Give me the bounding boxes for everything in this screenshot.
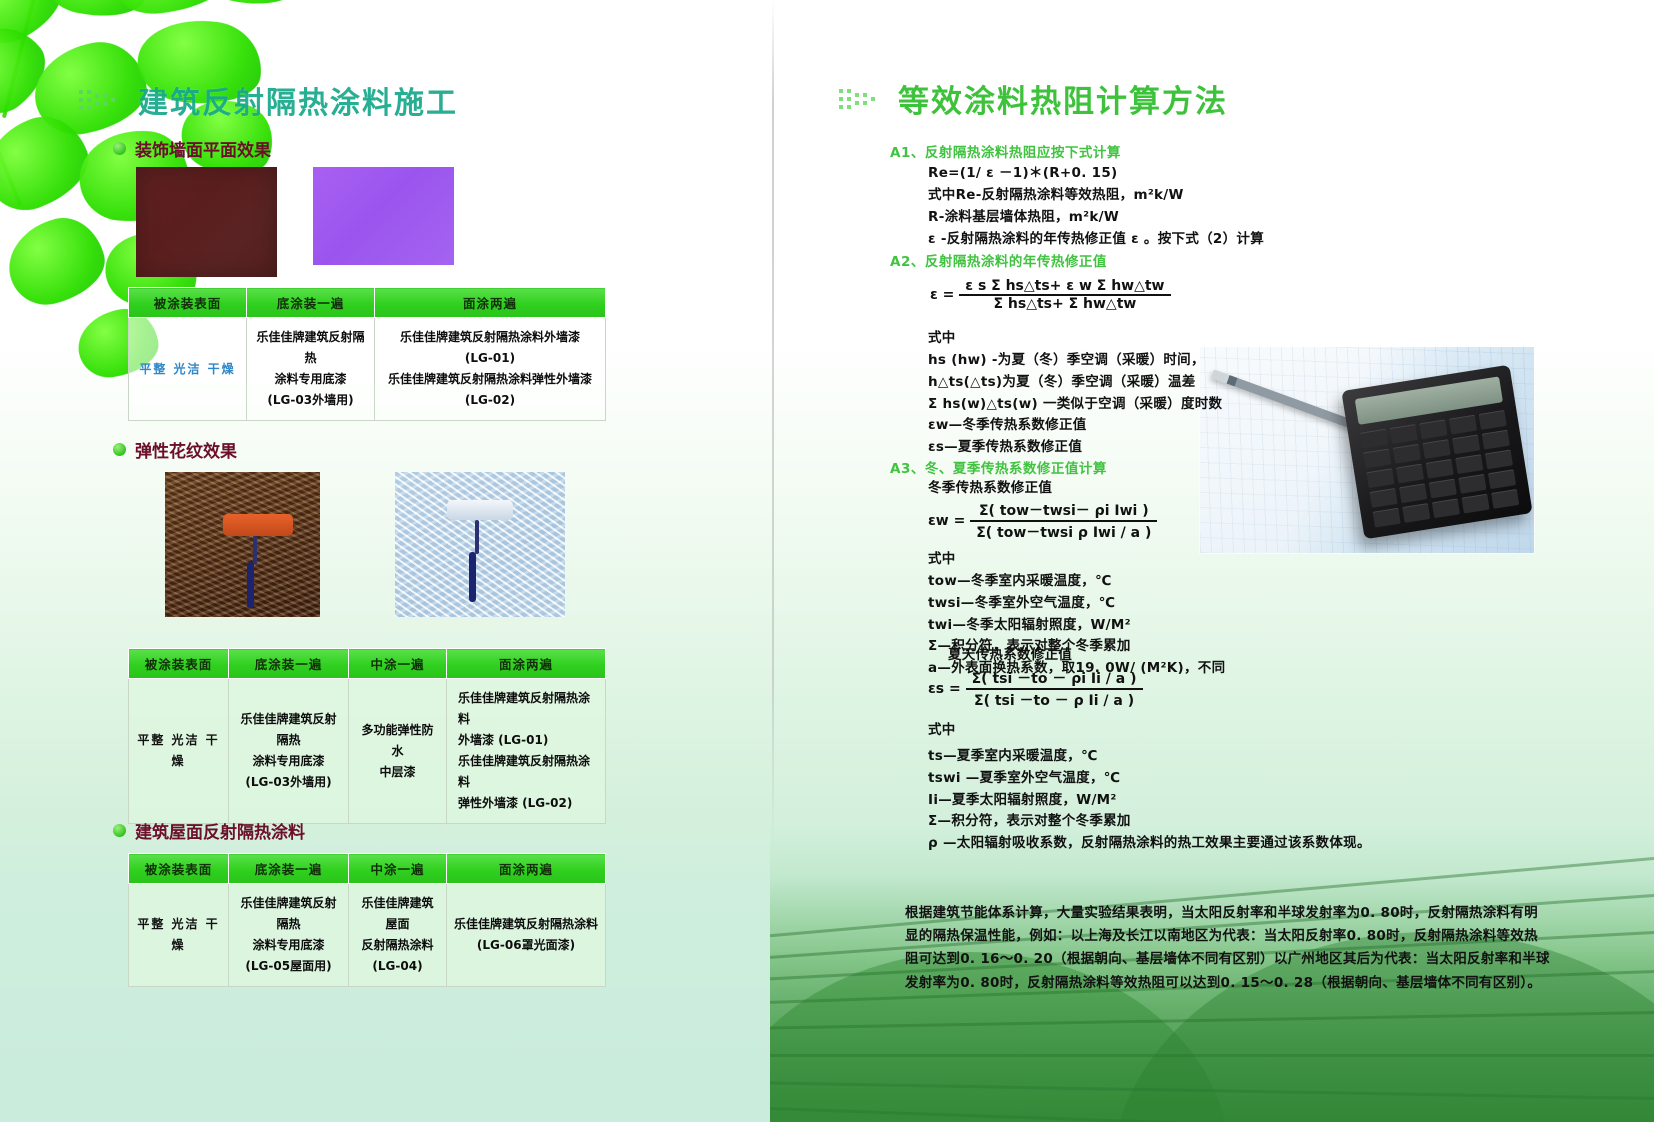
color-swatch-brown: [136, 167, 277, 277]
primer-line: 乐佳佳牌建筑反射隔热: [236, 893, 341, 935]
a3-w-line: 式中: [928, 549, 1225, 571]
bullet-icon: [113, 142, 126, 155]
a3-formula-w-lhs: εw =: [928, 513, 965, 529]
col-surface: 被涂装表面: [129, 649, 229, 679]
conclusion-line: 显的隔热保温性能，例如：以上海及长江以南地区为代表：当太阳反射率0. 80时，反…: [905, 925, 1550, 948]
a2-line: hs (hw) -为夏（冬）季空调（采暖）时间，: [928, 350, 1222, 372]
spec-table-elastic: 被涂装表面 底涂装一遍 中涂一遍 面涂两遍 平整 光洁 干燥 乐佳佳牌建筑反射隔…: [128, 648, 606, 824]
a3-s-line: ts—夏季室内采暖温度，℃: [928, 746, 1371, 768]
col-surface: 被涂装表面: [129, 854, 229, 884]
table-row: 平整 光洁 干燥 乐佳佳牌建筑反射隔热 涂料专用底漆 (LG-05屋面用) 乐佳…: [129, 884, 606, 987]
midcoat-line: (LG-04): [356, 956, 439, 977]
topcoat-line: 乐佳佳牌建筑反射隔热涂料: [458, 751, 598, 793]
a2-line: εw—冬季传热系数修正值: [928, 415, 1222, 437]
midcoat-line: 多功能弹性防水: [356, 720, 439, 762]
left-title-text: 建筑反射隔热涂料施工: [138, 78, 458, 122]
bullet-icon: [113, 443, 126, 456]
table-row: 平整 光洁 干燥 乐佳佳牌建筑反射隔热 涂料专用底漆 (LG-03外墙用) 乐佳…: [129, 318, 606, 421]
a3-s-line: tswi —夏季室外空气温度，℃: [928, 768, 1371, 790]
spec-table-roof: 被涂装表面 底涂装一遍 中涂一遍 面涂两遍 平整 光洁 干燥 乐佳佳牌建筑反射隔…: [128, 853, 606, 987]
a3-s-line: Σ—积分符，表示对整个冬季累加: [928, 811, 1371, 833]
topcoat-line: 乐佳佳牌建筑反射隔热涂料: [454, 914, 598, 935]
conclusion-line: 根据建筑节能体系计算，大量实验结果表明，当太阳反射率和半球发射率为0. 80时，…: [905, 902, 1550, 925]
col-topcoat: 面涂两遍: [447, 649, 606, 679]
a3-formula-s-denominator: Σ( tsi －to － ρ Ii / a ): [966, 690, 1143, 710]
primer-line: (LG-05屋面用): [236, 956, 341, 977]
spec-table-wall-flat: 被涂装表面 底涂装一遍 面涂两遍 平整 光洁 干燥 乐佳佳牌建筑反射隔热 涂料专…: [128, 287, 606, 421]
photo-brown-texture-roller: [165, 472, 320, 617]
a2-formula: ε = ε s Σ hs△ts+ ε w Σ hw△tw Σ hs△ts+ Σ …: [930, 278, 1171, 312]
a1-body: Re=(1/ ε －1)＊(R+0. 15) 式中Re-反射隔热涂料等效热阻，m…: [928, 163, 1264, 250]
conclusion-line: 阻可达到0. 16～0. 20（根据朝向、基层墙体不同有区别）以广州地区其后为代…: [905, 948, 1550, 971]
a3-formula-s-numerator: Σ( tsi －to － ρi Ii / a ): [966, 668, 1143, 690]
a3-w-line: twi—冬季太阳辐射照度，W/M²: [928, 615, 1225, 637]
section-heading-roof: 建筑屋面反射隔热涂料: [113, 818, 305, 843]
col-midcoat: 中涂一遍: [349, 649, 447, 679]
calculator-icon: [1341, 365, 1532, 540]
a2-line: Σ hs(w)△ts(w) 一类似于空调（采暖）度时数: [928, 394, 1222, 416]
photo-white-texture-roller: [395, 472, 565, 617]
cell-surface: 平整 光洁 干燥: [129, 679, 229, 824]
a1-line: R-涂料基层墙体热阻，m²k/W: [928, 207, 1264, 229]
primer-line: 涂料专用底漆: [236, 935, 341, 956]
a3-formula-w-numerator: Σ( tow－twsi－ ρi Iwi ): [970, 500, 1157, 522]
cell-surface: 平整 光洁 干燥: [129, 884, 229, 987]
poster-page: 建筑反射隔热涂料施工 装饰墙面平面效果 被涂装表面 底涂装一遍 面涂两遍 平整 …: [0, 0, 1654, 1122]
section-heading-text: 装饰墙面平面效果: [135, 136, 271, 161]
topcoat-line: 乐佳佳牌建筑反射隔热涂料弹性外墙漆: [382, 369, 598, 390]
dots-arrow-icon: [838, 85, 884, 113]
midcoat-line: 反射隔热涂料: [356, 935, 439, 956]
topcoat-line: 乐佳佳牌建筑反射隔热涂料: [458, 688, 598, 730]
a2-formula-lhs: ε =: [930, 287, 954, 303]
right-page-title: 等效涂料热阻计算方法: [838, 76, 1228, 121]
section-heading-elastic: 弹性花纹效果: [113, 437, 237, 462]
calculator-blueprint-photo: [1200, 347, 1534, 553]
table-header-row: 被涂装表面 底涂装一遍 中涂一遍 面涂两遍: [129, 854, 606, 884]
a2-formula-numerator: ε s Σ hs△ts+ ε w Σ hw△tw: [959, 278, 1170, 296]
col-primer: 底涂装一遍: [229, 649, 349, 679]
table-header-row: 被涂装表面 底涂装一遍 中涂一遍 面涂两遍: [129, 649, 606, 679]
a1-line: 式中Re-反射隔热涂料等效热阻，m²k/W: [928, 185, 1264, 207]
primer-line: 涂料专用底漆: [254, 369, 367, 390]
a3-formula-winter: εw = Σ( tow－twsi－ ρi Iwi ) Σ( tow－twsi ρ…: [928, 500, 1157, 542]
a3-formula-w-denominator: Σ( tow－twsi ρ Iwi / a ): [970, 522, 1157, 542]
topcoat-line: 弹性外墙漆 (LG-02): [458, 793, 598, 814]
conclusion-line: 发射率为0. 80时，反射隔热涂料等效热阻可以达到0. 15～0. 28（根据朝…: [905, 972, 1550, 995]
a3-formula-s-lhs: εs =: [928, 681, 961, 697]
a1-line: ε -反射隔热涂料的年传热修正值 ε 。按下式（2）计算: [928, 229, 1264, 251]
a3-summer-body: 式中 ts—夏季室内采暖温度，℃ tswi —夏季室外空气温度，℃ Ii—夏季太…: [928, 720, 1371, 855]
a2-line: 式中: [928, 328, 1222, 350]
section-heading-text: 弹性花纹效果: [135, 437, 237, 462]
cell-midcoat: 多功能弹性防水 中层漆: [349, 679, 447, 824]
section-heading-text: 建筑屋面反射隔热涂料: [135, 818, 305, 843]
a2-line: h△ts(△ts)为夏（冬）季空调（采暖）温差: [928, 372, 1222, 394]
a3-s-line: ρ —太阳辐射吸收系数，反射隔热涂料的热工效果主要通过该系数体现。: [928, 833, 1371, 855]
topcoat-line: (LG-01): [382, 348, 598, 369]
col-surface: 被涂装表面: [129, 288, 247, 318]
table-row: 平整 光洁 干燥 乐佳佳牌建筑反射隔热 涂料专用底漆 (LG-03外墙用) 多功…: [129, 679, 606, 824]
dots-arrow-icon: [78, 86, 124, 114]
a2-heading: A2、反射隔热涂料的年传热修正值: [890, 250, 1107, 270]
cell-primer: 乐佳佳牌建筑反射隔热 涂料专用底漆 (LG-03外墙用): [247, 318, 375, 421]
a3-winter-sub: 冬季传热系数修正值: [928, 478, 1052, 500]
a2-formula-denominator: Σ hs△ts+ Σ hw△tw: [959, 296, 1170, 312]
col-primer: 底涂装一遍: [247, 288, 375, 318]
primer-line: 乐佳佳牌建筑反射隔热: [236, 709, 341, 751]
a3-heading: A3、冬、夏季传热系数修正值计算: [890, 457, 1107, 477]
bullet-icon: [113, 824, 126, 837]
col-primer: 底涂装一遍: [229, 854, 349, 884]
a2-body: 式中 hs (hw) -为夏（冬）季空调（采暖）时间， h△ts(△ts)为夏（…: [928, 328, 1222, 459]
cell-primer: 乐佳佳牌建筑反射隔热 涂料专用底漆 (LG-03外墙用): [229, 679, 349, 824]
topcoat-line: (LG-02): [382, 390, 598, 411]
cell-topcoat: 乐佳佳牌建筑反射隔热涂料外墙漆 (LG-01) 乐佳佳牌建筑反射隔热涂料弹性外墙…: [375, 318, 606, 421]
a3-summer-sub: 夏天传热系数修正值: [948, 645, 1072, 667]
primer-line: (LG-03外墙用): [254, 390, 367, 411]
color-swatch-purple: [313, 167, 454, 265]
a1-heading: A1、反射隔热涂料热阻应按下式计算: [890, 141, 1121, 161]
midcoat-line: 中层漆: [356, 762, 439, 783]
a3-w-line: twsi—冬季室外空气温度，℃: [928, 593, 1225, 615]
topcoat-line: 外墙漆 (LG-01): [458, 730, 598, 751]
a2-line: εs—夏季传热系数修正值: [928, 437, 1222, 459]
cell-topcoat: 乐佳佳牌建筑反射隔热涂料 (LG-06罩光面漆): [447, 884, 606, 987]
primer-line: 乐佳佳牌建筑反射隔热: [254, 327, 367, 369]
table-header-row: 被涂装表面 底涂装一遍 面涂两遍: [129, 288, 606, 318]
primer-line: 涂料专用底漆: [236, 751, 341, 772]
a3-formula-summer: εs = Σ( tsi －to － ρi Ii / a ) Σ( tsi －to…: [928, 668, 1143, 710]
cell-primer: 乐佳佳牌建筑反射隔热 涂料专用底漆 (LG-05屋面用): [229, 884, 349, 987]
right-title-text: 等效涂料热阻计算方法: [898, 76, 1228, 121]
col-topcoat: 面涂两遍: [375, 288, 606, 318]
cell-surface: 平整 光洁 干燥: [129, 318, 247, 421]
col-topcoat: 面涂两遍: [447, 854, 606, 884]
a1-line: Re=(1/ ε －1)＊(R+0. 15): [928, 163, 1264, 185]
a3-s-line: 式中: [928, 720, 1371, 742]
topcoat-line: (LG-06罩光面漆): [454, 935, 598, 956]
a3-s-line: Ii—夏季太阳辐射照度，W/M²: [928, 790, 1371, 812]
midcoat-line: 乐佳佳牌建筑屋面: [356, 893, 439, 935]
left-page-title: 建筑反射隔热涂料施工: [78, 78, 458, 122]
cell-midcoat: 乐佳佳牌建筑屋面 反射隔热涂料 (LG-04): [349, 884, 447, 987]
primer-line: (LG-03外墙用): [236, 772, 341, 793]
col-midcoat: 中涂一遍: [349, 854, 447, 884]
a3-w-line: tow—冬季室内采暖温度，℃: [928, 571, 1225, 593]
cell-topcoat: 乐佳佳牌建筑反射隔热涂料 外墙漆 (LG-01) 乐佳佳牌建筑反射隔热涂料 弹性…: [447, 679, 606, 824]
column-divider: [772, 0, 774, 850]
topcoat-line: 乐佳佳牌建筑反射隔热涂料外墙漆: [382, 327, 598, 348]
section-heading-wall-flat: 装饰墙面平面效果: [113, 136, 271, 161]
conclusion-paragraph: 根据建筑节能体系计算，大量实验结果表明，当太阳反射率和半球发射率为0. 80时，…: [905, 902, 1550, 995]
